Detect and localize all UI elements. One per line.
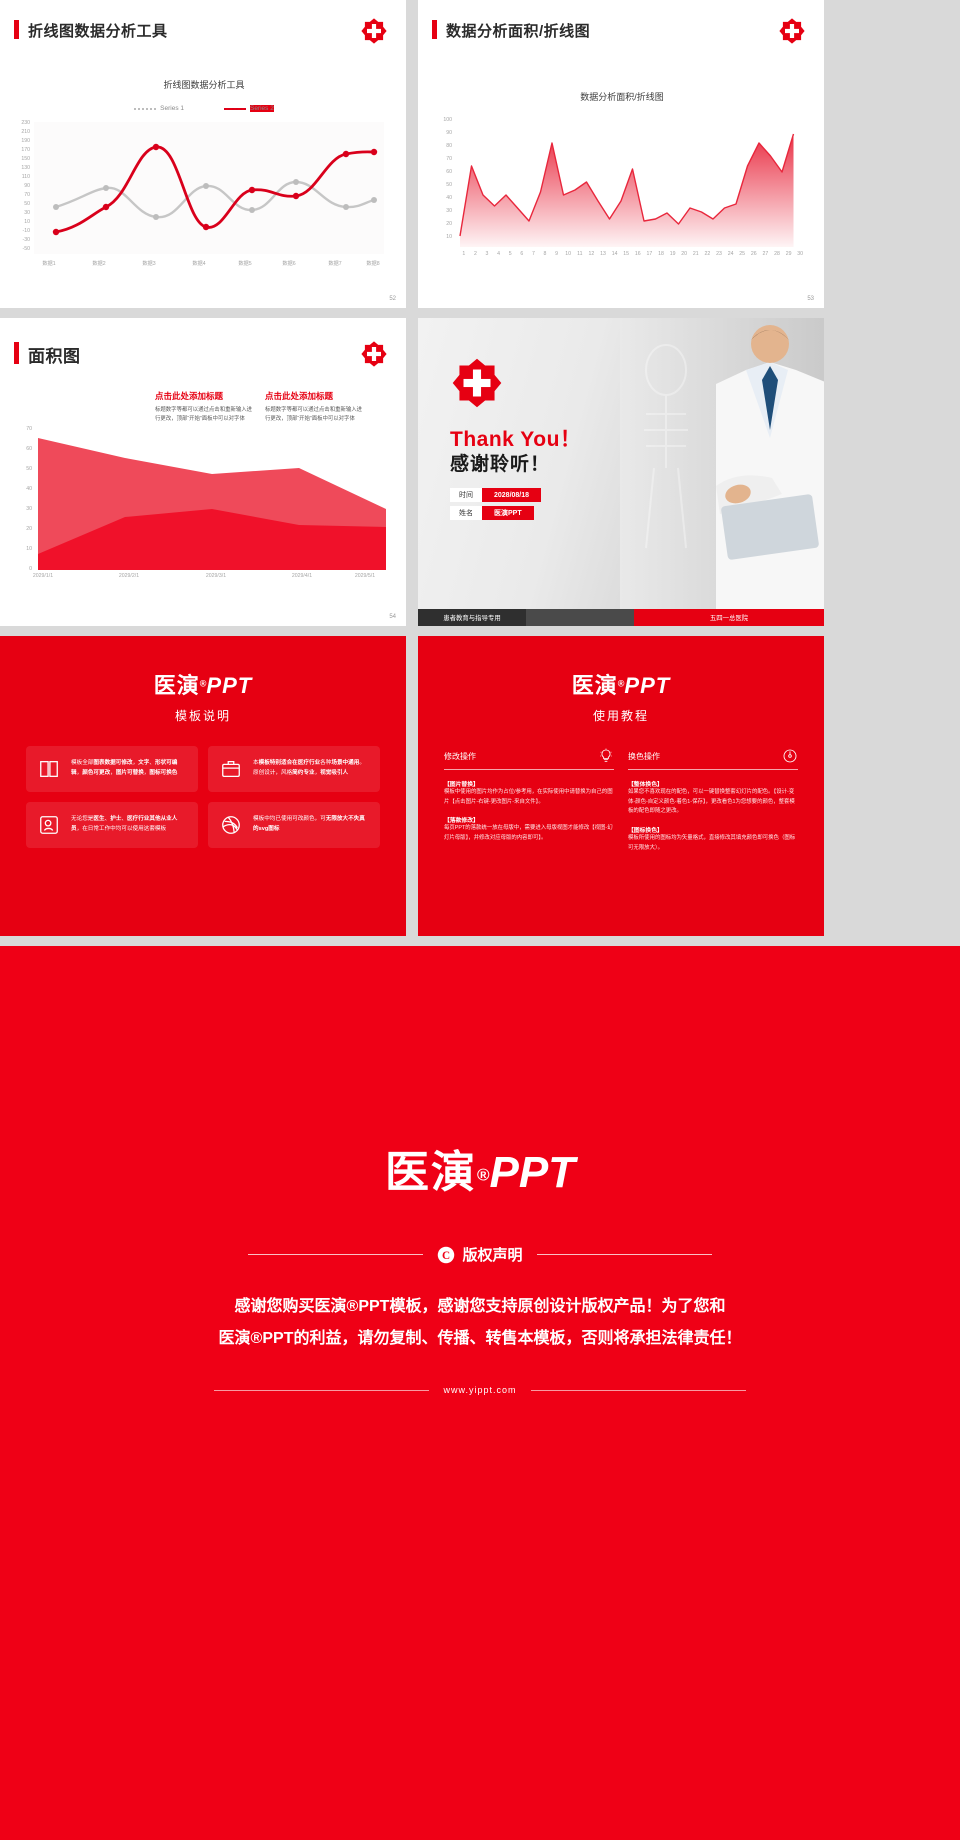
x-tick: 26 — [748, 251, 760, 257]
copyright-badge: C 版权声明 — [437, 1244, 522, 1265]
page-number: 54 — [389, 614, 396, 620]
tutorial-column-body: 【图片替换】 模板中使用的图片均作为占位/参考用，在实际使用中请替换为自己的图片… — [444, 779, 614, 844]
logo-en: PPT — [206, 673, 252, 698]
title-accent-bar — [14, 342, 19, 364]
meta-label: 姓名 — [450, 506, 482, 520]
rule-right — [531, 1390, 746, 1391]
chart-plot-area: 230 210 190 170 150 130 110 90 70 50 30 … — [14, 120, 394, 280]
notes-card-grid: 模板全部图表数据可修改，文字、形状可编辑，颜色可更改，图片可替换，图标可换色 本… — [26, 746, 380, 848]
x-tick: 数据1 — [28, 260, 70, 267]
slide-template-notes: 医演®PPT 模板说明 模板全部图表数据可修改，文字、形状可编辑，颜色可更改，图… — [0, 636, 406, 936]
x-tick: 19 — [667, 251, 679, 257]
notes-card: 无论您是医生、护士、医疗行业其他从业人员，在日常工作中均可以使用这套模板 — [26, 802, 198, 848]
tutorial-column-title: 换色操作 — [628, 751, 660, 762]
x-tick: 17 — [644, 251, 656, 257]
y-tick: 20 — [16, 526, 32, 532]
thank-you-cn: 感谢聆听！ — [450, 449, 550, 476]
legend-swatch-icon — [134, 108, 156, 110]
tutorial-column-modify: 修改操作 【图片替换】 模板中使用的图片均作为占位/参考用，在实际使用中请替换为… — [444, 748, 614, 854]
tutorial-item-heading: 【落款修改】 — [444, 815, 614, 824]
line-chart-svg — [34, 122, 384, 254]
brand-logo-large: 医演®PPT — [0, 946, 960, 1200]
y-tick: 70 — [14, 192, 30, 198]
y-tick: 30 — [14, 210, 30, 216]
x-tick: 14 — [609, 251, 621, 257]
y-tick: -10 — [14, 228, 30, 234]
x-tick: 23 — [713, 251, 725, 257]
x-tick: 29 — [783, 251, 795, 257]
tutorial-column-body: 【整体换色】 如果您不喜欢现在的配色，可以一键替换整套幻灯片的配色。【设计-变体… — [628, 779, 798, 854]
tutorial-item-body: 每页PPT的落款统一放在母版中，需要进入母版视图才能修改【视图-幻灯片母版】，并… — [444, 824, 614, 843]
chart-title: 折线图数据分析工具 — [14, 78, 394, 91]
copyright-badge-label: 版权声明 — [462, 1244, 522, 1265]
chart-title: 数据分析面积/折线图 — [432, 90, 812, 103]
logo-en: PPT — [489, 1148, 575, 1197]
y-tick: 60 — [16, 446, 32, 452]
x-tick: 数据6 — [268, 260, 310, 267]
x-tick: 11 — [574, 251, 586, 257]
medical-cross-icon — [450, 356, 504, 410]
x-tick: 27 — [760, 251, 772, 257]
slide-area-line-chart: 数据分析面积/折线图 数据分析面积/折线图 100 90 80 70 60 50… — [418, 0, 824, 308]
medical-cross-icon — [778, 17, 806, 45]
x-tick: 数据3 — [128, 260, 170, 267]
tutorial-column-header: 换色操作 — [628, 748, 798, 770]
x-tick: 9 — [551, 251, 563, 257]
tutorial-column-header: 修改操作 — [444, 748, 614, 770]
website-url[interactable]: www.yippt.com — [443, 1385, 516, 1395]
x-tick: 7 — [528, 251, 540, 257]
y-tick: 0 — [16, 566, 32, 572]
tutorial-item-body: 模板中使用的图片均作为占位/参考用，在实际使用中请替换为自己的图片【点击图片-右… — [444, 788, 614, 807]
notes-card: 模板全部图表数据可修改，文字、形状可编辑，颜色可更改，图片可替换，图标可换色 — [26, 746, 198, 792]
rule-right — [537, 1254, 712, 1255]
y-tick: 50 — [16, 466, 32, 472]
tutorial-item-body: 模板所使用的图标均为矢量格式，直接修改其填充颜色即可换色（图标可无限放大）。 — [628, 834, 798, 853]
caption-body: 标题数字等都可以通过点击和重新输入进行更改，顶部“开始”面板中可以对字体 — [155, 406, 255, 424]
y-tick: 60 — [436, 169, 452, 175]
y-tick: 70 — [16, 426, 32, 432]
y-tick: 80 — [436, 143, 452, 149]
footer-spacer — [526, 609, 634, 626]
stacked-area-plot: 70 60 50 40 30 20 10 0 2029/1/1 2029/2/1… — [14, 426, 394, 586]
y-tick: 40 — [16, 486, 32, 492]
legend-label: Series 1 — [160, 105, 184, 112]
logo-cn: 医演 — [154, 673, 200, 698]
svg-text:C: C — [442, 1249, 450, 1261]
title-accent-bar — [432, 20, 437, 39]
y-tick: 110 — [14, 174, 30, 180]
slide-footer: 患者教育与指导专用 五四一总医院 — [418, 609, 824, 626]
notes-card-text: 模板全部图表数据可修改，文字、形状可编辑，颜色可更改，图片可替换，图标可换色 — [71, 758, 188, 780]
x-tick: 28 — [771, 251, 783, 257]
palette-icon — [782, 748, 798, 764]
chart-plot-area: 100 90 80 70 60 50 40 30 20 10 123456789 — [432, 117, 812, 267]
notes-card: 本模板特别适合在医疗行业各种场景中通用。原创设计，风格简约专业，视觉吸引人 — [208, 746, 380, 792]
footer-right-label: 五四一总医院 — [634, 609, 824, 626]
x-tick: 20 — [678, 251, 690, 257]
x-tick: 30 — [794, 251, 806, 257]
x-tick: 数据5 — [224, 260, 266, 267]
y-tick: 210 — [14, 129, 30, 135]
x-tick: 1 — [458, 251, 470, 257]
slide-stacked-area: 面积图 点击此处添加标题 标题数字等都可以通过点击和重新输入进行更改，顶部“开始… — [0, 318, 406, 626]
x-tick: 2029/3/1 — [193, 573, 239, 579]
notes-card-text: 本模板特别适合在医疗行业各种场景中通用。原创设计，风格简约专业，视觉吸引人 — [253, 758, 370, 780]
x-tick: 16 — [632, 251, 644, 257]
legend-item-series1: Series 1 — [134, 105, 184, 112]
title-accent-bar — [14, 20, 19, 39]
x-tick: 18 — [655, 251, 667, 257]
user-search-icon — [36, 814, 62, 836]
slide-title: 数据分析面积/折线图 — [446, 20, 590, 41]
y-tick: 190 — [14, 138, 30, 144]
brand-logo: 医演®PPT — [418, 668, 824, 700]
x-tick: 6 — [516, 251, 528, 257]
x-tick: 数据8 — [352, 260, 394, 267]
x-tick: 2029/1/1 — [20, 573, 66, 579]
x-tick: 数据4 — [178, 260, 220, 267]
y-tick: 10 — [14, 219, 30, 225]
slide-copyright: 医演®PPT C 版权声明 感谢您购买医演®PPT模板，感谢您支持原创设计版权产… — [0, 946, 960, 1840]
meta-row-name: 姓名 医演PPT — [450, 506, 534, 520]
logo-en: PPT — [624, 673, 670, 698]
notes-card-text: 模板中均已使用可改颜色，可无限放大不失真的svg图标 — [253, 814, 370, 836]
caption-heading: 点击此处添加标题 — [155, 390, 255, 402]
notes-card: 模板中均已使用可改颜色，可无限放大不失真的svg图标 — [208, 802, 380, 848]
tutorial-item-heading: 【整体换色】 — [628, 779, 798, 788]
lightbulb-icon — [598, 748, 614, 764]
logo-cn: 医演 — [572, 673, 618, 698]
y-tick: 230 — [14, 120, 30, 126]
x-tick: 2029/4/1 — [279, 573, 325, 579]
doctor-photo — [620, 318, 824, 626]
y-tick: 70 — [436, 156, 452, 162]
x-tick: 21 — [690, 251, 702, 257]
logo-registered-icon: ® — [477, 1166, 490, 1185]
x-tick: 15 — [620, 251, 632, 257]
rule-left — [214, 1390, 429, 1391]
x-tick: 8 — [539, 251, 551, 257]
x-tick: 数据7 — [314, 260, 356, 267]
rule-left — [248, 1254, 423, 1255]
medical-cross-icon — [360, 340, 388, 368]
y-tick: 30 — [16, 506, 32, 512]
slide-thank-you: Thank You！ 感谢聆听！ 时间 2028/08/18 姓名 医演PPT … — [418, 318, 824, 626]
x-tick: 10 — [562, 251, 574, 257]
caption-block-1: 点击此处添加标题 标题数字等都可以通过点击和重新输入进行更改，顶部“开始”面板中… — [155, 390, 255, 424]
tutorial-columns: 修改操作 【图片替换】 模板中使用的图片均作为占位/参考用，在实际使用中请替换为… — [444, 748, 798, 854]
logo-cn: 医演 — [385, 1148, 477, 1197]
layout-divider — [0, 936, 960, 946]
y-tick: 90 — [436, 130, 452, 136]
y-tick: -30 — [14, 237, 30, 243]
tutorial-column-recolor: 换色操作 【整体换色】 如果您不喜欢现在的配色，可以一键替换整套幻灯片的配色。【… — [628, 748, 798, 854]
area-line-chart: 数据分析面积/折线图 100 90 80 70 60 50 40 30 20 1… — [432, 90, 812, 280]
stacked-area-svg — [36, 428, 388, 570]
slide-title: 折线图数据分析工具 — [28, 20, 168, 41]
x-tick: 5 — [504, 251, 516, 257]
slide-line-chart: 折线图数据分析工具 折线图数据分析工具 Series 1 Series 2 23… — [0, 0, 406, 308]
y-tick: 30 — [436, 208, 452, 214]
y-tick: 170 — [14, 147, 30, 153]
x-tick: 4 — [493, 251, 505, 257]
y-tick: 100 — [436, 117, 452, 123]
slide-subtitle: 模板说明 — [0, 707, 406, 724]
tutorial-item-heading: 【图标换色】 — [628, 825, 798, 834]
book-icon — [36, 758, 62, 780]
y-tick: -50 — [14, 246, 30, 252]
y-tick: 40 — [436, 195, 452, 201]
slide-usage-tutorial: 医演®PPT 使用教程 修改操作 【图片替换】 模板中使用的图片均作为占位/参考… — [418, 636, 824, 936]
x-tick: 13 — [597, 251, 609, 257]
x-tick: 22 — [702, 251, 714, 257]
tutorial-column-title: 修改操作 — [444, 751, 476, 762]
meta-label: 时间 — [450, 488, 482, 502]
y-tick: 10 — [16, 546, 32, 552]
x-tick: 3 — [481, 251, 493, 257]
box-icon — [218, 758, 244, 780]
x-tick: 数据2 — [78, 260, 120, 267]
x-tick: 2 — [470, 251, 482, 257]
x-tick: 25 — [736, 251, 748, 257]
copyright-badge-row: C 版权声明 — [0, 1244, 960, 1265]
tutorial-item-heading: 【图片替换】 — [444, 779, 614, 788]
page-number: 53 — [807, 296, 814, 302]
x-tick: 24 — [725, 251, 737, 257]
tutorial-item-body: 如果您不喜欢现在的配色，可以一键替换整套幻灯片的配色。【设计-变体-颜色-自定义… — [628, 788, 798, 817]
y-tick: 10 — [436, 234, 452, 240]
slide-title: 面积图 — [28, 342, 81, 367]
area-chart-svg — [458, 117, 806, 247]
legend-swatch-icon — [224, 108, 246, 110]
page-number: 52 — [389, 296, 396, 302]
y-tick: 130 — [14, 165, 30, 171]
meta-value: 医演PPT — [482, 506, 534, 520]
line-chart: 折线图数据分析工具 Series 1 Series 2 230 210 190 … — [14, 78, 394, 296]
caption-heading: 点击此处添加标题 — [265, 390, 365, 402]
chart-legend: Series 1 Series 2 — [14, 105, 394, 112]
y-tick: 90 — [14, 183, 30, 189]
y-tick: 150 — [14, 156, 30, 162]
legend-item-series2: Series 2 — [224, 105, 274, 112]
x-tick: 2029/5/1 — [342, 573, 388, 579]
footer-left-label: 患者教育与指导专用 — [418, 609, 526, 626]
medical-cross-icon — [360, 17, 388, 45]
y-tick: 20 — [436, 221, 452, 227]
meta-value: 2028/08/18 — [482, 488, 541, 502]
caption-body: 标题数字等都可以通过点击和重新输入进行更改，顶部“开始”面板中可以对字体 — [265, 406, 365, 424]
y-tick: 50 — [14, 201, 30, 207]
copyright-text: 感谢您购买医演®PPT模板，感谢您支持原创设计版权产品！为了您和 医演®PPT的… — [0, 1291, 960, 1355]
copyright-icon: C — [437, 1246, 455, 1264]
caption-block-2: 点击此处添加标题 标题数字等都可以通过点击和重新输入进行更改，顶部“开始”面板中… — [265, 390, 365, 424]
slide-subtitle: 使用教程 — [418, 707, 824, 724]
copyright-line-1: 感谢您购买医演®PPT模板，感谢您支持原创设计版权产品！为了您和 — [0, 1291, 960, 1323]
brand-logo: 医演®PPT — [0, 668, 406, 700]
y-tick: 50 — [436, 182, 452, 188]
x-tick: 12 — [586, 251, 598, 257]
x-axis-labels: 1234567891011121314151617181920212223242… — [458, 251, 806, 261]
copyright-line-2: 医演®PPT的利益，请勿复制、传播、转售本模板，否则将承担法律责任！ — [0, 1323, 960, 1355]
notes-card-text: 无论您是医生、护士、医疗行业其他从业人员，在日常工作中均可以使用这套模板 — [71, 814, 188, 836]
dribbble-icon — [218, 814, 244, 836]
x-tick: 2029/2/1 — [106, 573, 152, 579]
legend-label: Series 2 — [250, 105, 274, 112]
copyright-url-row: www.yippt.com — [0, 1385, 960, 1395]
meta-row-time: 时间 2028/08/18 — [450, 488, 541, 502]
